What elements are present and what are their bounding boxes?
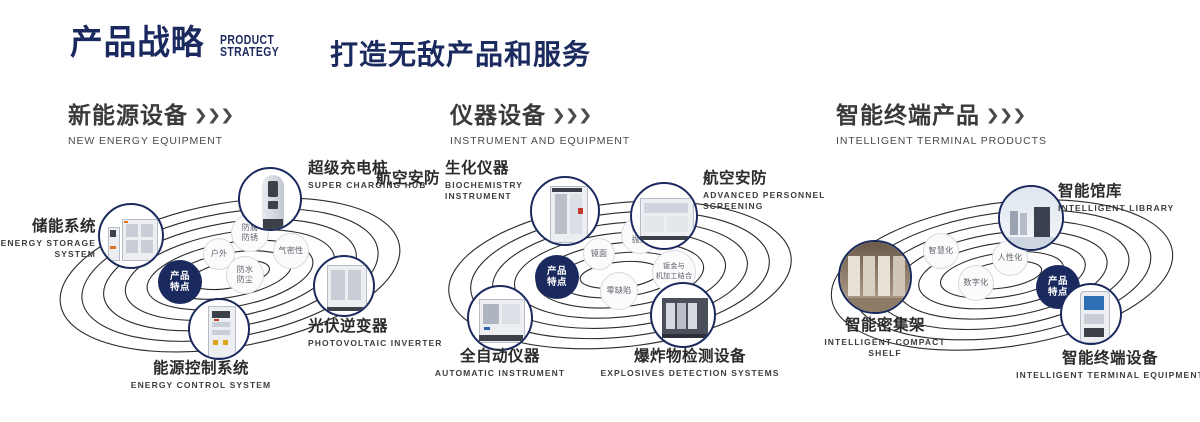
section-title-new-energy: 新能源设备❯❯❯ NEW ENERGY EQUIPMENT (68, 96, 231, 147)
node-photovoltaic-inverter[interactable] (313, 255, 375, 317)
chevrons-icon: ❯❯❯ (985, 106, 1025, 124)
label-biochemistry-instrument: 生化仪器 BIOCHEMISTRY INSTRUMENT (445, 160, 565, 202)
label-aviation-security-left: 航空安防 (310, 170, 440, 188)
screening-image (632, 184, 696, 248)
node-super-charging-hub[interactable] (238, 167, 302, 231)
node-label-en1: BIOCHEMISTRY (445, 180, 565, 191)
section-cn: 新能源设备 (68, 96, 188, 130)
center-line2: 特点 (170, 282, 190, 293)
feature-bubble-smart: 智慧化 (923, 233, 959, 269)
feature-center-badge: 产品特点 (158, 260, 202, 304)
center-line2: 特点 (547, 277, 567, 288)
inverter-image (315, 257, 373, 315)
label-energy-storage-system: 储能系统 ENERGY STORAGE SYSTEM (0, 218, 96, 260)
feature-bubble-zero-defect: 零缺陷 (600, 272, 638, 310)
label-intelligent-terminal-equipment: 智能终端设备 INTELLIGENT TERMINAL EQUIPMENT (1010, 350, 1200, 381)
cluster-intelligent-terminal-products: 智慧化 数字化 人性化 产品特点 智能馆库 INTELLIGENT LIBRAR… (810, 155, 1195, 395)
node-label-en2: SHELF (795, 348, 975, 359)
feature-bubble-waterproof: 防水防尘 (226, 256, 264, 294)
node-label-en1: ENERGY CONTROL SYSTEM (86, 380, 316, 391)
node-label-cn: 储能系统 (0, 218, 96, 236)
node-explosives-detection-systems[interactable] (650, 282, 716, 348)
node-label-cn: 能源控制系统 (86, 360, 316, 378)
intelligent-library-image (1000, 187, 1062, 249)
node-label-cn: 航空安防 (310, 170, 440, 188)
node-label-cn: 全自动仪器 (420, 348, 580, 366)
section-en: NEW ENERGY EQUIPMENT (68, 135, 231, 147)
node-energy-control-system[interactable] (188, 298, 250, 360)
center-line1: 产品 (547, 266, 567, 277)
node-automatic-instrument[interactable] (467, 285, 533, 351)
automatic-instrument-image (469, 287, 531, 349)
node-label-cn: 爆炸物检测设备 (595, 348, 785, 366)
section-cn: 仪器设备 (450, 96, 546, 130)
center-line1: 产品 (170, 271, 190, 282)
label-automatic-instrument: 全自动仪器 AUTOMATIC INSTRUMENT (420, 348, 580, 379)
terminal-equipment-image (1062, 285, 1120, 343)
chevrons-icon: ❯❯❯ (551, 106, 591, 124)
title-en: PRODUCT STRATEGY (220, 34, 279, 58)
title-en-line2: STRATEGY (220, 46, 279, 58)
control-system-image (190, 300, 248, 358)
node-energy-storage-system[interactable] (98, 203, 164, 269)
feature-center-badge: 产品特点 (535, 255, 579, 299)
node-label-en2: SYSTEM (0, 249, 96, 260)
section-cn: 智能终端产品 (836, 96, 980, 130)
node-intelligent-terminal-equipment[interactable] (1060, 283, 1122, 345)
node-label-en1: ENERGY STORAGE (0, 238, 96, 249)
section-en: INTELLIGENT TERMINAL PRODUCTS (836, 135, 1047, 147)
node-label-en1: EXPLOSIVES DETECTION SYSTEMS (595, 368, 785, 379)
node-advanced-personnel-screening[interactable] (630, 182, 698, 250)
node-label-cn: 智能终端设备 (1010, 350, 1200, 368)
infographic-canvas: 产品战略 PRODUCT STRATEGY 打造无敌产品和服务 新能源设备❯❯❯… (0, 0, 1200, 422)
feature-bubble-digital: 数字化 (958, 265, 994, 301)
label-intelligent-compact-shelf: 智能密集架 INTELLIGENT COMPACT SHELF (795, 317, 975, 359)
node-label-en1: AUTOMATIC INSTRUMENT (420, 368, 580, 379)
section-title-instrument: 仪器设备❯❯❯ INSTRUMENT AND EQUIPMENT (450, 96, 630, 147)
cluster-instrument-and-equipment: 产品特点 镜面 电解抛光 零缺陷 钣金与机加工结合 航空安防 生化仪器 BIOC… (425, 150, 815, 390)
compact-shelf-image (840, 242, 910, 312)
title-cn: 产品战略 (70, 26, 204, 60)
node-intelligent-compact-shelf[interactable] (838, 240, 912, 314)
node-label-cn: 智能馆库 (1058, 183, 1200, 201)
page-title: 产品战略 PRODUCT STRATEGY (70, 26, 294, 60)
node-label-cn: 智能密集架 (795, 317, 975, 335)
explosives-detection-image (652, 284, 714, 346)
node-intelligent-library[interactable] (998, 185, 1064, 251)
label-explosives-detection-systems: 爆炸物检测设备 EXPLOSIVES DETECTION SYSTEMS (595, 348, 785, 379)
section-title-intelligent: 智能终端产品❯❯❯ INTELLIGENT TERMINAL PRODUCTS (836, 96, 1047, 147)
feature-bubble-airtight: 气密性 (273, 233, 309, 269)
chevrons-icon: ❯❯❯ (193, 106, 233, 124)
label-intelligent-library: 智能馆库 INTELLIGENT LIBRARY (1058, 183, 1200, 214)
node-label-cn: 生化仪器 (445, 160, 565, 178)
node-label-en1: INTELLIGENT LIBRARY (1058, 203, 1200, 214)
section-en: INSTRUMENT AND EQUIPMENT (450, 135, 630, 147)
charging-hub-image (240, 169, 300, 229)
label-energy-control-system: 能源控制系统 ENERGY CONTROL SYSTEM (86, 360, 316, 391)
node-label-en2: INSTRUMENT (445, 191, 565, 202)
page-subtitle: 打造无敌产品和服务 (330, 33, 591, 73)
node-label-en1: INTELLIGENT TERMINAL EQUIPMENT (1010, 370, 1200, 381)
energy-storage-image (100, 205, 162, 267)
node-label-en1: INTELLIGENT COMPACT (795, 337, 975, 348)
